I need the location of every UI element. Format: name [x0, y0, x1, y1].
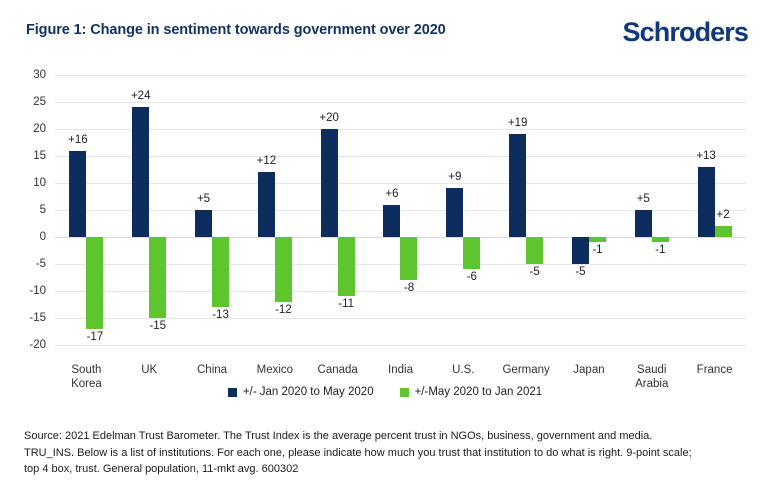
y-tick-label: -5 [36, 258, 46, 270]
bar-group: +20-11 [306, 75, 369, 345]
bar-value-label: +5 [637, 193, 650, 205]
bar-value-label: +6 [385, 188, 398, 200]
bar-value-label: +12 [257, 155, 277, 167]
source-note: Source: 2021 Edelman Trust Barometer. Th… [24, 428, 746, 478]
bar-value-label: -1 [655, 244, 665, 256]
x-tick-label: U.S. [452, 363, 474, 377]
y-tick-label: 5 [40, 204, 46, 216]
y-tick-label: -10 [29, 285, 46, 297]
bar-group: +13+2 [683, 75, 746, 345]
bar[interactable] [715, 226, 732, 237]
chart-header: Figure 1: Change in sentiment towards go… [0, 0, 770, 62]
x-tick-label: Mexico [257, 363, 293, 377]
bar-value-label: +20 [319, 112, 339, 124]
bar[interactable] [275, 237, 292, 302]
bar-group: +12-12 [243, 75, 306, 345]
bar-value-label: -5 [575, 266, 585, 278]
bar-group: +5-13 [181, 75, 244, 345]
bar-group: +6-8 [369, 75, 432, 345]
bar[interactable] [383, 205, 400, 237]
bar-value-label: +19 [508, 117, 528, 129]
x-tick-label: UK [141, 363, 157, 377]
bar-value-label: +9 [448, 171, 461, 183]
bar-value-label: -6 [467, 271, 477, 283]
x-tick-label: France [697, 363, 733, 377]
bar[interactable] [698, 167, 715, 237]
x-tick-label: India [388, 363, 413, 377]
legend-label: +/-May 2020 to Jan 2021 [415, 386, 543, 398]
bar-value-label: -17 [87, 331, 104, 343]
bar[interactable] [86, 237, 103, 329]
bar-value-label: -1 [592, 244, 602, 256]
bar-group: +5-1 [620, 75, 683, 345]
x-tick-label: Germany [502, 363, 549, 377]
bar[interactable] [526, 237, 543, 264]
y-tick-label: -15 [29, 312, 46, 324]
bar-value-label: -5 [530, 266, 540, 278]
bar-value-label: +5 [197, 193, 210, 205]
legend-swatch-icon [400, 388, 409, 397]
bar-value-label: -8 [404, 282, 414, 294]
bar-value-label: +2 [717, 209, 730, 221]
bar[interactable] [212, 237, 229, 307]
bar[interactable] [132, 107, 149, 237]
bar-value-label: -15 [149, 320, 166, 332]
bar-group: +19-5 [495, 75, 558, 345]
bar-value-label: -13 [212, 309, 229, 321]
bar-value-label: +16 [68, 134, 88, 146]
bar-value-label: +24 [131, 90, 151, 102]
bar[interactable] [69, 151, 86, 237]
plot-area: 302520151050-5-10-15-20 +16-17+24-15+5-1… [55, 75, 746, 345]
bar[interactable] [463, 237, 480, 269]
x-tick-label: China [197, 363, 227, 377]
y-tick-label: 0 [40, 231, 46, 243]
bar[interactable] [400, 237, 417, 280]
bar-group: +9-6 [432, 75, 495, 345]
page-title: Figure 1: Change in sentiment towards go… [26, 22, 446, 38]
bar[interactable] [635, 210, 652, 237]
legend-item[interactable]: +/-May 2020 to Jan 2021 [400, 386, 543, 398]
bar-chart: 302520151050-5-10-15-20 +16-17+24-15+5-1… [0, 62, 770, 384]
bar[interactable] [149, 237, 166, 318]
x-tick-label: Japan [573, 363, 604, 377]
chart-legend: +/- Jan 2020 to May 2020+/-May 2020 to J… [0, 386, 770, 398]
legend-item[interactable]: +/- Jan 2020 to May 2020 [228, 386, 374, 398]
bar[interactable] [509, 134, 526, 237]
x-tick-label: Canada [318, 363, 358, 377]
y-tick-label: -20 [29, 339, 46, 351]
schroders-logo: Schroders [623, 17, 748, 48]
y-tick-label: 20 [33, 123, 46, 135]
bar[interactable] [195, 210, 212, 237]
y-tick-label: 10 [33, 177, 46, 189]
bar[interactable] [446, 188, 463, 237]
bar-group: -5-1 [558, 75, 621, 345]
bar-value-label: -11 [338, 298, 354, 310]
bar[interactable] [572, 237, 589, 264]
bar[interactable] [589, 237, 606, 242]
legend-swatch-icon [228, 388, 237, 397]
y-tick-label: 25 [33, 96, 46, 108]
bar-group: +24-15 [118, 75, 181, 345]
bar[interactable] [321, 129, 338, 237]
y-tick-label: 15 [33, 150, 46, 162]
bar[interactable] [652, 237, 669, 242]
source-line-3: top 4 box, trust. General population, 11… [24, 461, 746, 478]
source-line-1: Source: 2021 Edelman Trust Barometer. Th… [24, 428, 746, 445]
bar-value-label: +13 [696, 150, 716, 162]
bar-value-label: -12 [275, 304, 292, 316]
bar[interactable] [338, 237, 355, 296]
y-tick-label: 30 [33, 69, 46, 81]
source-line-2: TRU_INS. Below is a list of institutions… [24, 445, 746, 462]
gridline [55, 345, 746, 346]
legend-label: +/- Jan 2020 to May 2020 [243, 386, 374, 398]
bar[interactable] [258, 172, 275, 237]
bar-group: +16-17 [55, 75, 118, 345]
